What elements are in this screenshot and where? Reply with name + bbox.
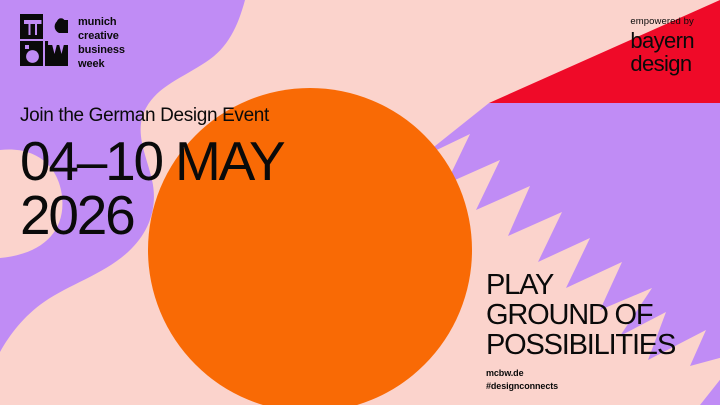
- contact-meta: mcbw.de #designconnects: [486, 367, 675, 391]
- website-link[interactable]: mcbw.de: [486, 367, 675, 379]
- mcbw-logo[interactable]: munich creative business week: [20, 14, 125, 71]
- partner-name-line-2: design: [630, 52, 694, 75]
- logo-word-4: week: [78, 57, 125, 71]
- headline-block: Join the German Design Event 04–10 MAY 2…: [20, 106, 284, 243]
- event-dates: 04–10 MAY 2026: [20, 135, 284, 243]
- hashtag-text: #designconnects: [486, 380, 675, 392]
- logo-word-2: creative: [78, 29, 125, 43]
- poster-canvas: munich creative business week empowered …: [0, 0, 720, 405]
- claim-line-1: PLAY: [486, 270, 675, 300]
- logo-word-1: munich: [78, 15, 125, 29]
- partner-name: bayern design: [630, 29, 694, 76]
- claim-block: PLAY GROUND OF POSSIBILITIES mcbw.de #de…: [486, 270, 675, 392]
- event-date-line-1: 04–10 MAY: [20, 135, 284, 189]
- event-date-line-2: 2026: [20, 189, 284, 243]
- event-kicker-text: Join the German Design Event: [20, 106, 284, 125]
- claim-line-2: GROUND OF: [486, 300, 675, 330]
- bayern-design-partner-logo[interactable]: empowered by bayern design: [630, 16, 694, 76]
- mcbw-logo-wordmark: munich creative business week: [78, 15, 125, 71]
- claim-line-3: POSSIBILITIES: [486, 330, 675, 360]
- partner-name-line-1: bayern: [630, 29, 694, 52]
- partner-eyebrow-text: empowered by: [630, 16, 694, 27]
- mcbw-logo-mark-icon: [20, 14, 68, 66]
- logo-word-3: business: [78, 43, 125, 57]
